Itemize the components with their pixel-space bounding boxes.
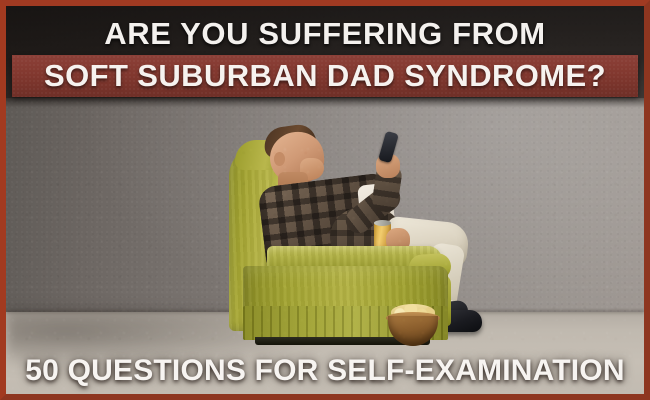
armchair-front [221, 146, 486, 321]
page-title: ARE YOU SUFFERING FROM [6, 16, 644, 52]
bowl-of-chips [384, 302, 442, 348]
page-subtitle: SOFT SUBURBAN DAD SYNDROME? [6, 56, 644, 96]
poster: ARE YOU SUFFERING FROM SOFT SUBURBAN DAD… [0, 0, 650, 400]
headline-scrim-fade [6, 98, 644, 108]
footer-callout: 50 QUESTIONS FOR SELF-EXAMINATION [6, 354, 644, 388]
bowl-body [388, 316, 438, 346]
